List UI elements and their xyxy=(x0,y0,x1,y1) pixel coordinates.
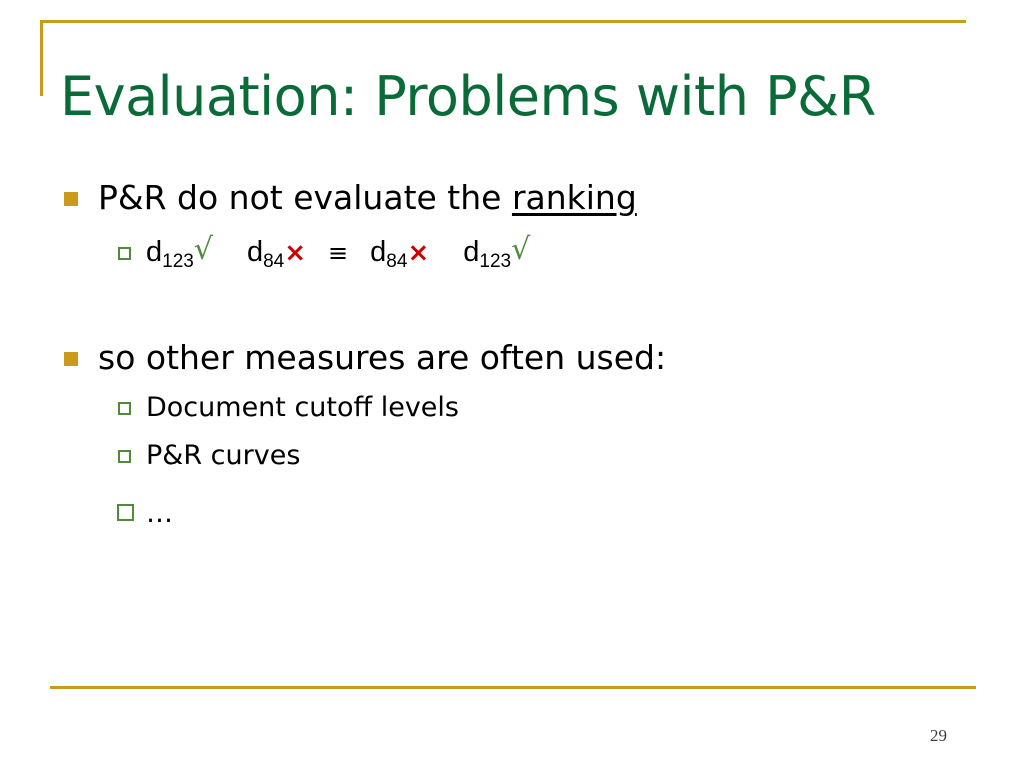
slide-body: P&R do not evaluate the ranking d123√d84… xyxy=(0,178,1024,532)
cross-mark-icon: × xyxy=(284,238,306,268)
hollow-square-bullet-icon xyxy=(118,450,131,463)
equivalence-operator: ≡ xyxy=(328,239,348,267)
bullet-item-pr-ranking: P&R do not evaluate the ranking xyxy=(0,178,1024,218)
formula-term1-base: d xyxy=(146,236,162,268)
formula-term2-base: d xyxy=(247,236,263,268)
hollow-square-bullet-icon xyxy=(118,402,131,415)
spacer xyxy=(0,426,1024,438)
bullet-text: so other measures are often used: xyxy=(98,338,666,377)
formula-row-ranking-equivalence: d123√d84×≡d84×d123√ xyxy=(0,230,1024,278)
filled-square-bullet-icon xyxy=(64,352,78,366)
footer-rule xyxy=(50,686,976,689)
spacer xyxy=(0,278,1024,338)
cross-mark-icon: × xyxy=(407,238,429,268)
list-item-ellipsis: … xyxy=(0,496,1024,532)
formula-term1-subscript: 123 xyxy=(162,251,194,272)
formula-term2-subscript: 84 xyxy=(263,251,284,272)
bullet-item-other-measures: so other measures are often used: xyxy=(0,338,1024,378)
slide-canvas: Evaluation: Problems with P&R P&R do not… xyxy=(0,0,1024,768)
filled-square-bullet-icon xyxy=(64,192,78,206)
hollow-square-bullet-icon xyxy=(117,504,134,521)
spacer xyxy=(0,218,1024,230)
title-rule-left xyxy=(40,20,43,96)
page-title: Evaluation: Problems with P&R xyxy=(60,64,980,130)
hollow-square-bullet-icon xyxy=(118,247,131,260)
page-number: 29 xyxy=(930,726,990,746)
spacer xyxy=(0,378,1024,390)
formula-term4-base: d xyxy=(463,236,479,268)
list-item-label: Document cutoff levels xyxy=(146,392,459,423)
spacer xyxy=(0,474,1024,496)
formula-term3-subscript: 84 xyxy=(386,251,407,272)
bullet-text-emphasis: ranking xyxy=(512,178,637,217)
list-item-label: P&R curves xyxy=(146,440,300,471)
check-mark-icon: √ xyxy=(511,232,530,267)
list-item-document-cutoff-levels: Document cutoff levels xyxy=(0,390,1024,426)
check-mark-icon: √ xyxy=(194,232,213,267)
formula-term3-base: d xyxy=(370,236,386,268)
title-rule-top xyxy=(40,20,966,23)
formula-term4-subscript: 123 xyxy=(479,251,511,272)
list-item-pr-curves: P&R curves xyxy=(0,438,1024,474)
list-item-label: … xyxy=(146,498,173,529)
bullet-text-prefix: P&R do not evaluate the xyxy=(98,178,512,217)
